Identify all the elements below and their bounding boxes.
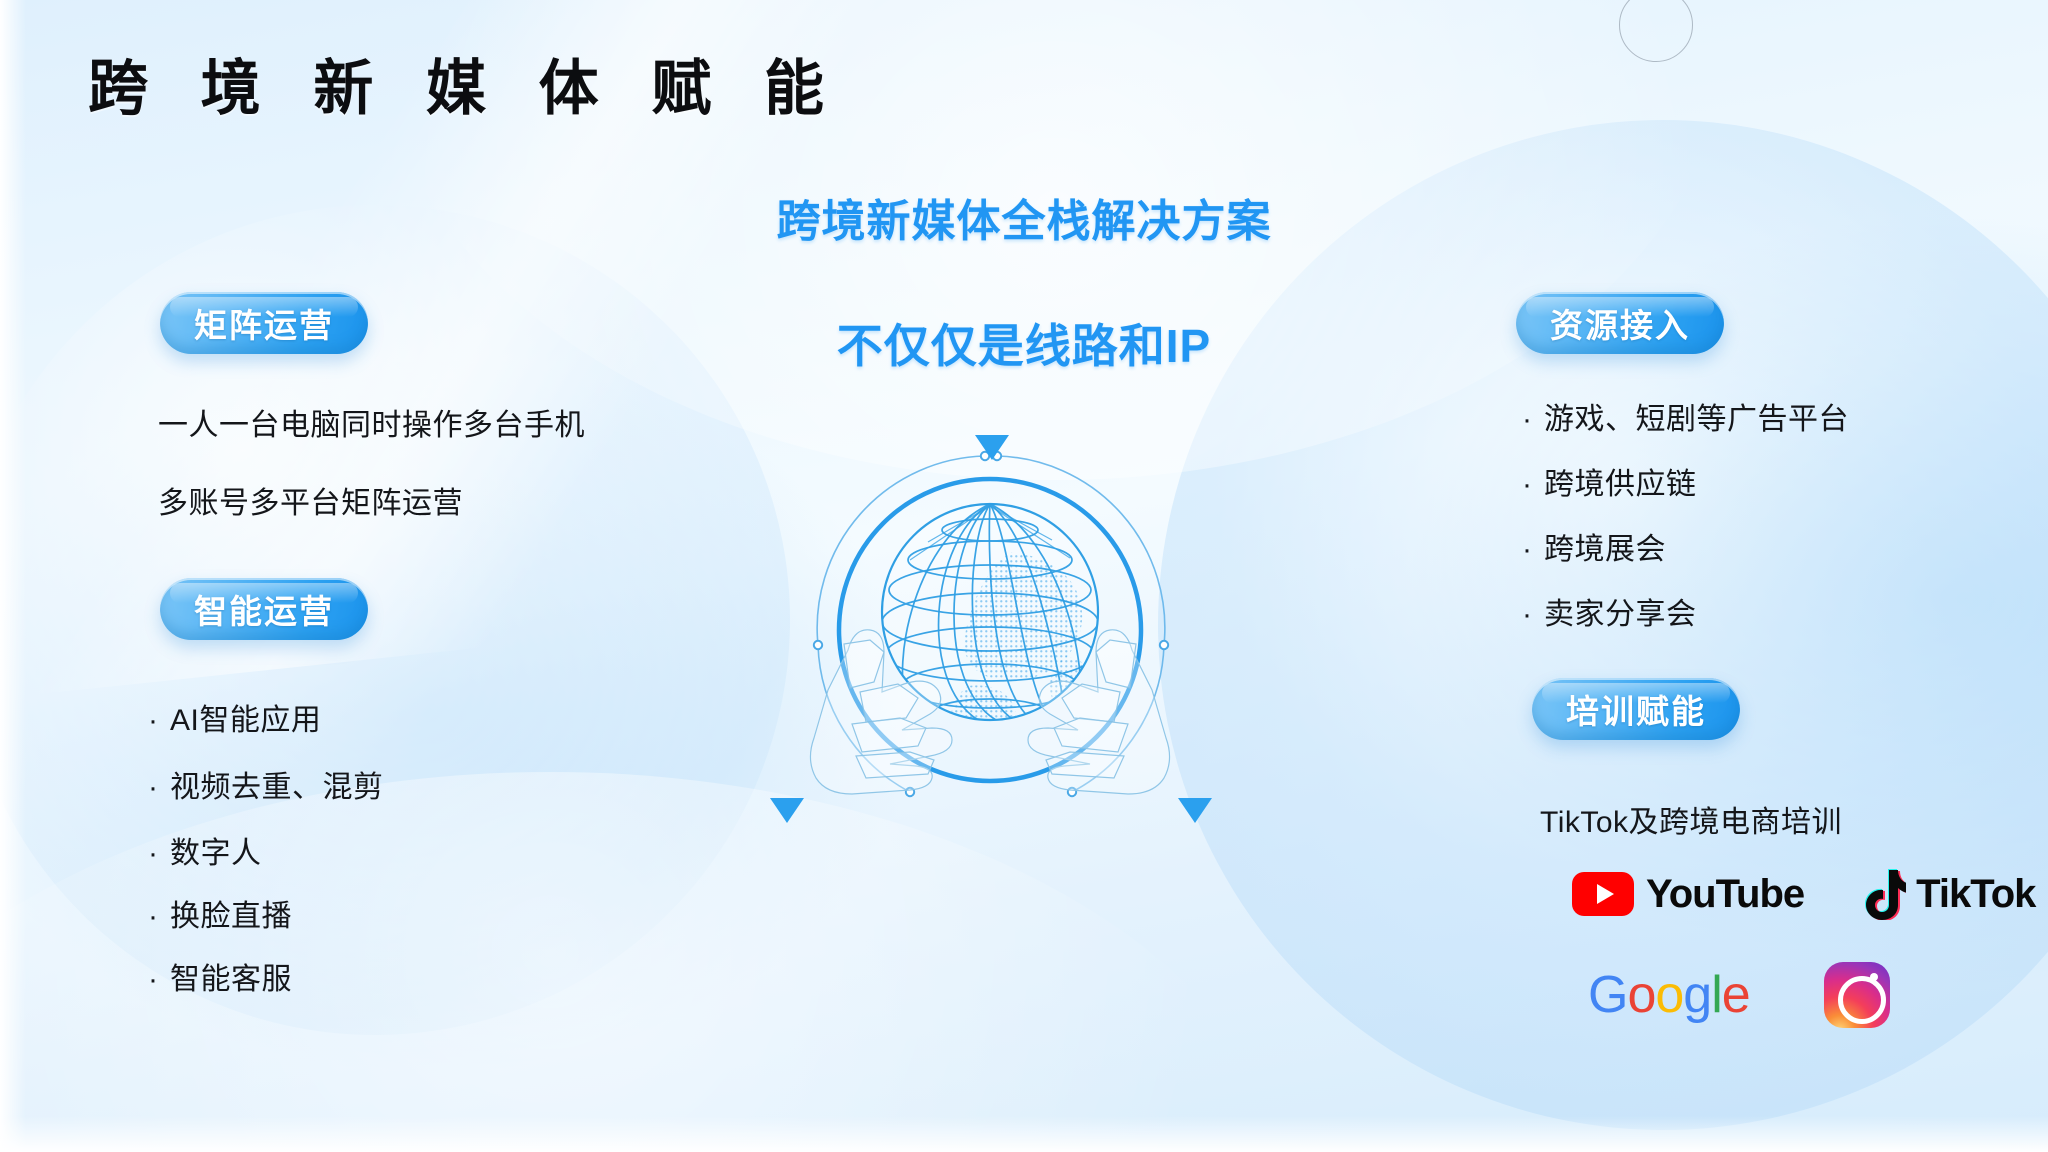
instagram-camera-icon (1824, 962, 1890, 1028)
center-heading-secondary: 不仅仅是线路和IP (837, 310, 1211, 376)
bullet-icon: · (148, 771, 170, 805)
google-letter-g1: G (1588, 966, 1627, 1024)
training-description: TikTok及跨境电商培训 (1540, 797, 1842, 841)
bullet-icon: · (148, 837, 170, 871)
list-item-label: 换脸直播 (170, 900, 292, 933)
bullet-icon: · (1522, 533, 1544, 567)
pill-smart-operations-label: 智能运营 (194, 585, 334, 633)
pill-resource-access[interactable]: 资源接入 (1516, 292, 1724, 354)
list-item-label: 数字人 (170, 837, 262, 870)
list-item: ·数字人 (148, 828, 262, 872)
bullet-icon: · (148, 900, 170, 934)
list-item-label: 游戏、短剧等广告平台 (1544, 403, 1849, 436)
matrix-description-line-2: 多账号多平台矩阵运营 (158, 478, 463, 522)
slide-canvas: 跨 境 新 媒 体 赋 能 跨境新媒体全栈解决方案 不仅仅是线路和IP (0, 0, 2048, 1152)
edge-fade-left (0, 0, 26, 1152)
list-item-label: 视频去重、混剪 (170, 771, 384, 804)
decorative-ring-icon (1619, 0, 1693, 62)
logo-row-secondary: Google (1588, 962, 1890, 1028)
google-letter-o1: o (1627, 966, 1655, 1024)
page-title: 跨 境 新 媒 体 赋 能 (88, 40, 842, 127)
google-logo: Google (1588, 969, 1750, 1021)
tiktok-note-icon (1860, 868, 1906, 920)
globe-in-hands-illustration (760, 400, 1220, 860)
logo-row-primary: YouTube TikTok (1572, 868, 2035, 920)
list-item: ·卖家分享会 (1522, 589, 1697, 633)
youtube-logo: YouTube (1572, 872, 1804, 917)
google-letter-e: e (1722, 966, 1750, 1024)
bullet-icon: · (148, 963, 170, 997)
list-item: ·视频去重、混剪 (148, 762, 384, 806)
pill-training-empowerment-label: 培训赋能 (1566, 685, 1706, 733)
list-item: ·跨境展会 (1522, 524, 1666, 568)
youtube-logo-label: YouTube (1646, 872, 1804, 917)
list-item-label: 卖家分享会 (1544, 598, 1697, 631)
edge-fade-bottom (0, 1116, 2048, 1152)
pill-matrix-operations-label: 矩阵运营 (194, 299, 334, 347)
youtube-play-icon (1572, 872, 1634, 916)
google-letter-g2: g (1683, 966, 1711, 1024)
bullet-icon: · (1522, 468, 1544, 502)
list-item-label: 跨境供应链 (1544, 468, 1697, 501)
list-item: ·跨境供应链 (1522, 459, 1697, 503)
list-item-label: 智能客服 (170, 963, 292, 996)
list-item: ·游戏、短剧等广告平台 (1522, 394, 1849, 438)
google-letter-o2: o (1655, 966, 1683, 1024)
center-heading-primary: 跨境新媒体全栈解决方案 (777, 185, 1272, 249)
list-item-label: AI智能应用 (170, 704, 321, 737)
pill-smart-operations[interactable]: 智能运营 (160, 578, 368, 640)
matrix-description-line-1: 一人一台电脑同时操作多台手机 (158, 400, 585, 444)
bullet-icon: · (1522, 403, 1544, 437)
list-item: ·智能客服 (148, 954, 292, 998)
list-item: ·换脸直播 (148, 891, 292, 935)
pill-training-empowerment[interactable]: 培训赋能 (1532, 678, 1740, 740)
bullet-icon: · (148, 704, 170, 738)
bullet-icon: · (1522, 598, 1544, 632)
list-item: ·AI智能应用 (148, 695, 321, 739)
tiktok-logo-label: TikTok (1916, 872, 2035, 917)
pill-resource-access-label: 资源接入 (1550, 299, 1690, 347)
tiktok-logo: TikTok (1860, 868, 2035, 920)
list-item-label: 跨境展会 (1544, 533, 1666, 566)
google-letter-l: l (1711, 966, 1722, 1024)
pill-matrix-operations[interactable]: 矩阵运营 (160, 292, 368, 354)
